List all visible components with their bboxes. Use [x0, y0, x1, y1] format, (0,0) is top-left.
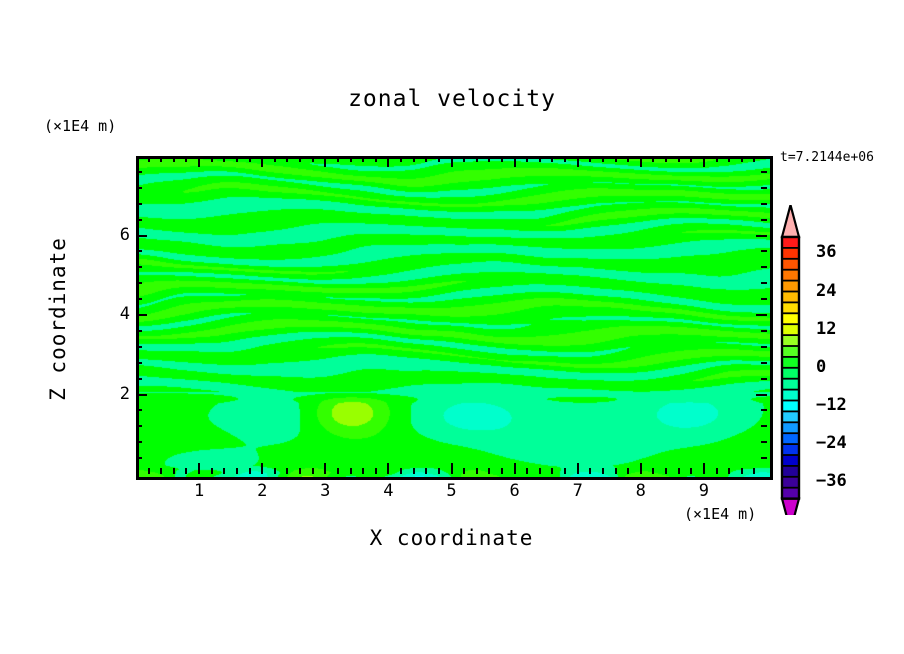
z-tick-left: [136, 298, 142, 300]
colorbar-band: [782, 455, 799, 466]
x-tick-top: [413, 156, 415, 162]
x-tick-bottom: [236, 468, 238, 474]
z-tick-right: [756, 314, 767, 316]
colorbar-over-cap: [782, 205, 799, 237]
x-tick-top: [160, 156, 162, 162]
x-tick-top: [337, 156, 339, 162]
colorbar-band: [782, 357, 799, 368]
colorbar-under-cap: [782, 499, 799, 515]
colorbar-tick-label: 12: [816, 319, 836, 339]
x-tick-label: 1: [184, 481, 214, 501]
x-tick-bottom: [526, 468, 528, 474]
colorbar-band: [782, 302, 799, 313]
z-tick-right: [761, 457, 767, 459]
z-tick-left: [136, 219, 142, 221]
x-tick-bottom: [413, 468, 415, 474]
x-tick-bottom: [173, 468, 175, 474]
x-tick-top: [627, 156, 629, 162]
x-tick-bottom: [488, 468, 490, 474]
z-tick-left: [136, 282, 142, 284]
z-tick-label: 6: [100, 225, 130, 245]
x-tick-bottom: [261, 463, 263, 474]
x-tick-bottom: [640, 463, 642, 474]
x-tick-bottom: [387, 463, 389, 474]
z-tick-left: [136, 346, 142, 348]
z-tick-right: [761, 298, 767, 300]
x-tick-top: [463, 156, 465, 162]
x-tick-label: 9: [689, 481, 719, 501]
x-tick-top: [438, 156, 440, 162]
colorbar-band: [782, 237, 799, 248]
x-tick-bottom: [148, 468, 150, 474]
x-tick-bottom: [249, 468, 251, 474]
x-tick-bottom: [299, 468, 301, 474]
page-title: zonal velocity: [0, 86, 904, 112]
colorbar-tick-label: 24: [816, 281, 836, 301]
z-tick-left: [136, 362, 142, 364]
x-tick-bottom: [741, 468, 743, 474]
z-tick-right: [761, 346, 767, 348]
colorbar: 3624120−12−24−36: [770, 205, 900, 515]
colorbar-band: [782, 422, 799, 433]
colorbar-band: [782, 324, 799, 335]
x-tick-top: [703, 156, 705, 167]
x-tick-bottom: [753, 468, 755, 474]
x-tick-bottom: [463, 468, 465, 474]
time-stamp-annotation: t=7.2144e+06: [780, 150, 874, 165]
z-tick-right: [756, 394, 767, 396]
x-tick-top: [564, 156, 566, 162]
x-tick-top: [185, 156, 187, 162]
z-tick-right: [761, 425, 767, 427]
x-tick-bottom: [223, 468, 225, 474]
contour-plot-area: [136, 156, 773, 480]
x-tick-top: [324, 156, 326, 167]
colorbar-band: [782, 368, 799, 379]
x-tick-top: [652, 156, 654, 162]
z-tick-right: [761, 250, 767, 252]
x-tick-top: [173, 156, 175, 162]
x-tick-bottom: [438, 468, 440, 474]
colorbar-band: [782, 466, 799, 477]
z-tick-left: [136, 203, 142, 205]
x-tick-label: 7: [563, 481, 593, 501]
colorbar-band: [782, 346, 799, 357]
x-tick-top: [716, 156, 718, 162]
x-tick-bottom: [350, 468, 352, 474]
x-tick-top: [551, 156, 553, 162]
x-tick-bottom: [652, 468, 654, 474]
x-tick-label: 3: [310, 481, 340, 501]
x-tick-top: [261, 156, 263, 167]
x-tick-top: [198, 156, 200, 167]
x-tick-bottom: [551, 468, 553, 474]
z-tick-right: [761, 171, 767, 173]
colorbar-band: [782, 259, 799, 270]
x-tick-top: [501, 156, 503, 162]
x-tick-top: [602, 156, 604, 162]
x-tick-top: [286, 156, 288, 162]
x-tick-top: [665, 156, 667, 162]
x-tick-top: [741, 156, 743, 162]
colorbar-band: [782, 313, 799, 324]
x-tick-bottom: [198, 463, 200, 474]
y-axis-title: Z coordinate: [46, 224, 70, 414]
x-tick-top: [476, 156, 478, 162]
colorbar-band: [782, 281, 799, 292]
x-tick-bottom: [160, 468, 162, 474]
z-tick-right: [761, 187, 767, 189]
x-tick-top: [728, 156, 730, 162]
x-tick-bottom: [514, 463, 516, 474]
x-tick-top: [387, 156, 389, 167]
z-tick-right: [761, 378, 767, 380]
x-tick-bottom: [678, 468, 680, 474]
x-tick-top: [223, 156, 225, 162]
colorbar-tick-label: −24: [816, 433, 847, 453]
x-tick-bottom: [728, 468, 730, 474]
x-tick-bottom: [665, 468, 667, 474]
x-tick-bottom: [589, 468, 591, 474]
z-tick-right: [761, 330, 767, 332]
colorbar-tick-label: 36: [816, 242, 836, 262]
x-tick-bottom: [286, 468, 288, 474]
x-tick-bottom: [312, 468, 314, 474]
colorbar-band: [782, 401, 799, 412]
x-tick-top: [488, 156, 490, 162]
colorbar-band: [782, 335, 799, 346]
z-tick-left: [136, 187, 142, 189]
x-tick-top: [312, 156, 314, 162]
x-tick-top: [589, 156, 591, 162]
x-tick-top: [400, 156, 402, 162]
z-tick-right: [761, 219, 767, 221]
z-tick-left: [136, 441, 142, 443]
x-axis-units-label: (×1E4 m): [684, 505, 756, 523]
x-tick-top: [350, 156, 352, 162]
x-tick-top: [211, 156, 213, 162]
x-tick-bottom: [324, 463, 326, 474]
x-tick-bottom: [337, 468, 339, 474]
x-tick-top: [615, 156, 617, 162]
colorbar-band: [782, 488, 799, 499]
x-tick-bottom: [274, 468, 276, 474]
colorbar-band: [782, 444, 799, 455]
z-tick-left: [136, 266, 142, 268]
z-tick-left: [136, 394, 147, 396]
z-tick-left: [136, 235, 147, 237]
x-tick-top: [375, 156, 377, 162]
contour-field-canvas: [139, 159, 770, 477]
x-tick-top: [249, 156, 251, 162]
x-tick-top: [362, 156, 364, 162]
x-tick-bottom: [577, 463, 579, 474]
colorbar-band: [782, 411, 799, 422]
y-axis-units-label: (×1E4 m): [44, 117, 116, 135]
x-tick-top: [299, 156, 301, 162]
colorbar-band: [782, 292, 799, 303]
z-tick-left: [136, 330, 142, 332]
x-tick-top: [236, 156, 238, 162]
colorbar-band: [782, 477, 799, 488]
x-tick-bottom: [627, 468, 629, 474]
x-tick-top: [451, 156, 453, 167]
x-tick-bottom: [690, 468, 692, 474]
x-tick-label: 8: [626, 481, 656, 501]
colorbar-band: [782, 270, 799, 281]
x-tick-bottom: [476, 468, 478, 474]
colorbar-tick-label: −36: [816, 471, 847, 491]
x-tick-label: 5: [437, 481, 467, 501]
x-tick-top: [539, 156, 541, 162]
x-tick-top: [753, 156, 755, 162]
z-tick-right: [761, 409, 767, 411]
x-tick-bottom: [539, 468, 541, 474]
x-tick-label: 4: [373, 481, 403, 501]
x-tick-label: 6: [500, 481, 530, 501]
z-tick-right: [756, 235, 767, 237]
z-tick-left: [136, 378, 142, 380]
x-axis-title: X coordinate: [136, 526, 767, 550]
colorbar-tick-label: −12: [816, 395, 847, 415]
colorbar-band: [782, 390, 799, 401]
x-tick-top: [514, 156, 516, 167]
colorbar-tick-label: 0: [816, 357, 826, 377]
x-tick-bottom: [400, 468, 402, 474]
z-tick-right: [761, 266, 767, 268]
x-tick-top: [274, 156, 276, 162]
x-tick-bottom: [615, 468, 617, 474]
z-tick-right: [761, 203, 767, 205]
x-tick-top: [678, 156, 680, 162]
z-tick-left: [136, 250, 142, 252]
x-tick-bottom: [211, 468, 213, 474]
x-tick-bottom: [362, 468, 364, 474]
z-tick-label: 2: [100, 384, 130, 404]
x-tick-top: [425, 156, 427, 162]
x-tick-top: [577, 156, 579, 167]
x-tick-bottom: [185, 468, 187, 474]
x-tick-top: [526, 156, 528, 162]
x-tick-bottom: [451, 463, 453, 474]
z-tick-left: [136, 425, 142, 427]
x-tick-bottom: [703, 463, 705, 474]
z-tick-left: [136, 409, 142, 411]
x-tick-bottom: [425, 468, 427, 474]
z-tick-left: [136, 314, 147, 316]
x-tick-top: [148, 156, 150, 162]
x-tick-top: [640, 156, 642, 167]
x-tick-bottom: [564, 468, 566, 474]
z-tick-left: [136, 171, 142, 173]
z-tick-right: [761, 282, 767, 284]
x-tick-bottom: [716, 468, 718, 474]
x-tick-top: [690, 156, 692, 162]
x-tick-bottom: [602, 468, 604, 474]
x-tick-bottom: [375, 468, 377, 474]
z-tick-right: [761, 441, 767, 443]
colorbar-band: [782, 248, 799, 259]
colorbar-band: [782, 433, 799, 444]
z-tick-label: 4: [100, 304, 130, 324]
x-tick-bottom: [501, 468, 503, 474]
z-tick-left: [136, 457, 142, 459]
colorbar-band: [782, 379, 799, 390]
z-tick-right: [761, 362, 767, 364]
x-tick-label: 2: [247, 481, 277, 501]
